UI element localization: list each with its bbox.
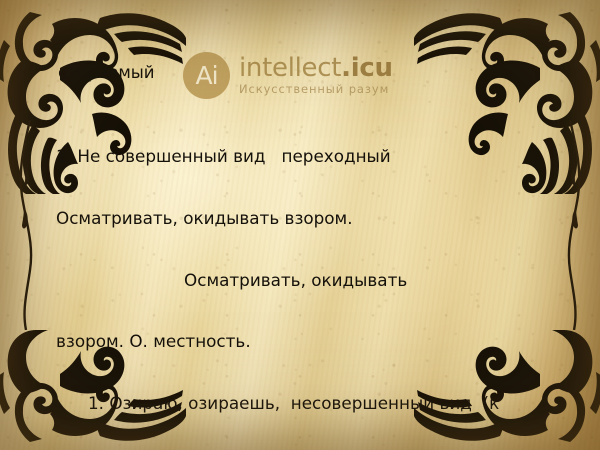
body-line: 1. Озираю, озираешь, несовершенный вид (… [56, 393, 568, 414]
slide-canvas: Ai intellect.icu Искусственный разум ози… [0, 0, 600, 450]
body-line: 1. Не совершенный вид переходный [56, 146, 568, 167]
slide-content: озираемый 1. Не совершенный вид переходн… [56, 63, 568, 450]
body-line: Осматривать, окидывать взором. [56, 208, 568, 229]
definition-body: 1. Не совершенный вид переходный Осматри… [56, 105, 568, 450]
page-title: озираемый [58, 63, 568, 83]
body-line: Осматривать, окидывать [56, 270, 568, 291]
edge-line-left-icon [14, 120, 40, 334]
body-line: взором. О. местность. [56, 331, 568, 352]
